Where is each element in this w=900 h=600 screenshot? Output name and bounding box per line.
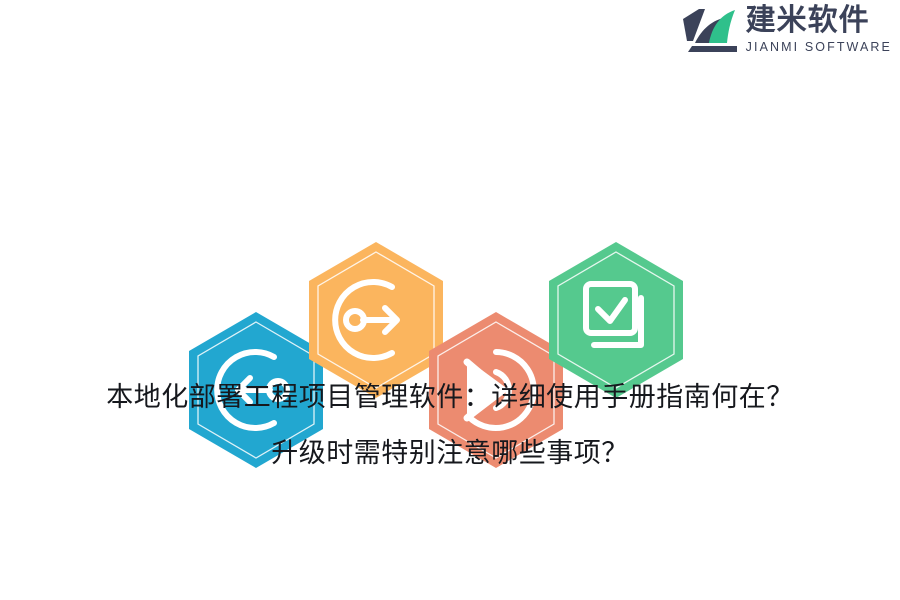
brand-text: 建米软件 JIANMI SOFTWARE <box>746 6 892 54</box>
brand-name-en: JIANMI SOFTWARE <box>746 41 892 54</box>
page-title: 本地化部署工程项目管理软件：详细使用手册指南何在？ 升级时需特别注意哪些事项？ <box>0 370 900 482</box>
brand-logo[interactable]: 建米软件 JIANMI SOFTWARE <box>682 6 892 54</box>
brand-name-cn: 建米软件 <box>746 6 892 36</box>
jianmi-leaf-logo-icon <box>682 7 738 53</box>
page-title-line-2: 升级时需特别注意哪些事项？ <box>0 426 900 482</box>
page-title-line-1: 本地化部署工程项目管理软件：详细使用手册指南何在？ <box>0 370 900 426</box>
hexagon-icon-cluster <box>0 120 900 345</box>
